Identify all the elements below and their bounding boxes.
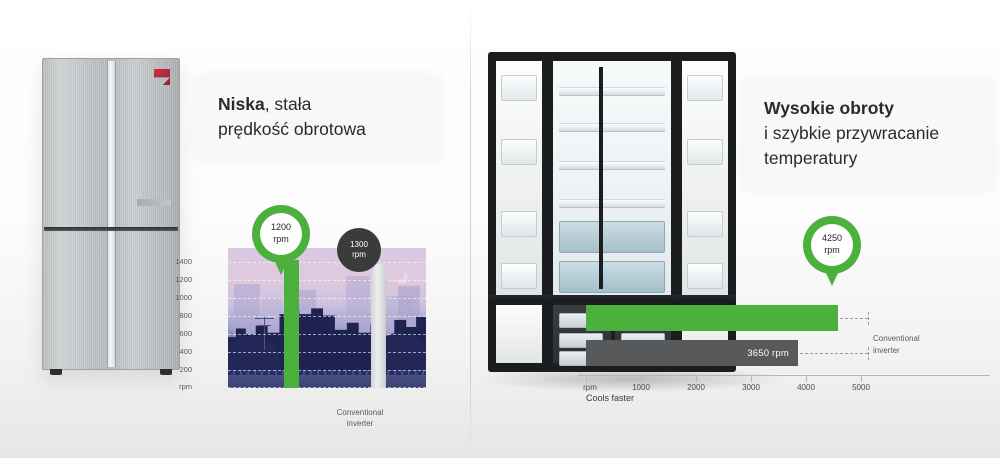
y-tick-1000: 1000 <box>162 294 192 302</box>
gridline-baseline <box>228 387 426 388</box>
gridline <box>228 280 426 281</box>
fridge-foot-left <box>50 369 62 375</box>
y-tick-1400: 1400 <box>162 258 192 266</box>
door-bin <box>501 75 537 101</box>
dot-unit: rpm <box>350 250 368 260</box>
crisper-drawer-lower <box>559 261 665 293</box>
model-badge <box>137 199 171 206</box>
gridline <box>228 352 426 353</box>
caption-card-right: Wysokie obroty i szybkie przywracanie te… <box>742 80 994 189</box>
shelf <box>559 123 665 132</box>
caption-right-line2: i szybkie przywracanie <box>764 121 974 146</box>
x-tick-label-3000: 3000 <box>742 383 760 392</box>
x-tick-label-2000: 2000 <box>687 383 705 392</box>
footnote-conventional-inverter: Conventional inverter <box>305 407 415 429</box>
y-tick-800: 800 <box>162 312 192 320</box>
x-axis: rpm 1000 2000 3000 4000 5000 <box>578 375 990 389</box>
x-tick-label-4000: 4000 <box>797 383 815 392</box>
gridline <box>228 334 426 335</box>
chart-subtitle-cools-faster: Cools faster <box>586 393 634 403</box>
dot-label: 1300 rpm <box>350 240 368 260</box>
legend-line1: Conventional <box>873 333 920 345</box>
fridge-interior <box>550 58 674 298</box>
interior-divider <box>599 67 603 289</box>
gridline <box>228 370 426 371</box>
x-tick-label-rpm: rpm <box>583 383 597 392</box>
door-bin <box>501 211 537 237</box>
chart-high-speed: 3650 rpm Conventional inverter rpm 1000 … <box>578 305 998 415</box>
leader-line-green <box>840 318 868 319</box>
x-tick <box>751 376 752 382</box>
door-upper-left <box>493 58 545 298</box>
marker-pin-sharp-inverter: 1200 rpm <box>252 205 310 277</box>
pin-value: 1200 <box>271 222 291 234</box>
door-bin <box>501 139 537 165</box>
door-upper-right <box>679 58 731 298</box>
caption-right-line1: Wysokie obroty <box>764 96 974 121</box>
caption-left-rest: , stała <box>265 94 312 114</box>
caption-right-strong: Wysokie obroty <box>764 98 894 118</box>
x-tick-label-1000: 1000 <box>632 383 650 392</box>
footnote-line1: Conventional <box>305 407 415 418</box>
pin-head: 1200 rpm <box>252 205 310 263</box>
door-seam-vertical <box>107 61 116 367</box>
dot-value: 1300 <box>350 240 368 250</box>
legend-line2: inverter <box>873 345 920 357</box>
infographic-canvas: Niska, stała prędkość obrotowa <box>0 0 1000 458</box>
marker-dot-conventional-inverter: 1300 rpm <box>337 228 381 272</box>
gridline <box>228 298 426 299</box>
x-tick-label-5000: 5000 <box>852 383 870 392</box>
fridge-body <box>42 58 180 370</box>
pin-unit: rpm <box>271 234 291 246</box>
shelf <box>559 87 665 96</box>
pin-label: 4250 rpm <box>822 233 842 256</box>
utility-pole-icon <box>264 316 265 350</box>
bar-conventional-inverter: 3650 rpm <box>586 340 798 366</box>
door-lower-left <box>493 302 545 366</box>
caption-card-left: Niska, stała prędkość obrotowa <box>196 76 442 160</box>
shelf <box>559 199 665 208</box>
leader-line-grey <box>800 353 868 354</box>
pin-unit: rpm <box>822 245 842 257</box>
leader-tick-grey <box>868 347 869 360</box>
y-tick-400: 400 <box>162 348 192 356</box>
x-tick <box>586 376 587 382</box>
x-tick <box>696 376 697 382</box>
door-bin <box>687 139 723 165</box>
door-seam-horizontal <box>44 227 178 231</box>
pin-label: 1200 rpm <box>271 222 291 245</box>
y-axis-unit: rpm <box>162 383 192 391</box>
y-tick-1200: 1200 <box>162 276 192 284</box>
caption-left-line1: Niska, stała <box>218 92 422 117</box>
bar-sharp-inverter <box>586 305 838 331</box>
caption-left-strong: Niska <box>218 94 265 114</box>
crisper-drawer-upper <box>559 221 665 253</box>
closed-refrigerator-image <box>42 58 180 370</box>
bar-value-label: 3650 rpm <box>747 348 798 359</box>
x-tick <box>806 376 807 382</box>
pin-head: 4250 rpm <box>803 216 861 274</box>
caption-left-line2: prędkość obrotowa <box>218 117 422 142</box>
footnote-line2: inverter <box>305 418 415 429</box>
y-tick-600: 600 <box>162 330 192 338</box>
pin-value: 4250 <box>822 233 842 245</box>
x-tick <box>861 376 862 382</box>
caption-right-line3: temperatury <box>764 146 974 171</box>
marker-pin-sharp-inverter: 4250 rpm <box>803 216 861 288</box>
panel-high-speed: Wysokie obroty i szybkie przywracanie te… <box>470 0 1000 458</box>
y-tick-200: 200 <box>162 366 192 374</box>
bar-sharp-inverter <box>284 260 299 388</box>
door-bin <box>687 263 723 289</box>
panel-low-speed: Niska, stała prędkość obrotowa <box>0 0 470 458</box>
legend-conventional-inverter: Conventional inverter <box>873 333 920 356</box>
leader-tick-green <box>868 312 869 325</box>
bar-conventional-inverter <box>371 264 386 388</box>
door-bin <box>687 75 723 101</box>
door-bin <box>501 263 537 289</box>
shelf <box>559 161 665 170</box>
door-bin <box>687 211 723 237</box>
x-tick <box>641 376 642 382</box>
chart-low-speed: 1400 1200 1000 800 600 400 200 rpm <box>196 248 426 388</box>
gridline <box>228 316 426 317</box>
